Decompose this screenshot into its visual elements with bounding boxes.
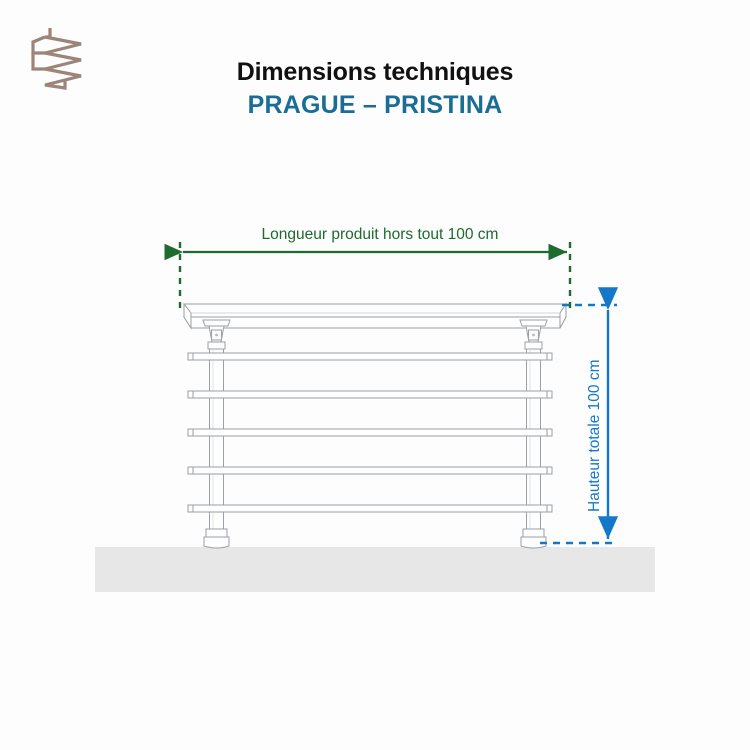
length-dimension-label: Longueur produit hors tout 100 cm	[190, 226, 570, 244]
height-dimension-label: Hauteur totale 100 cm	[586, 359, 604, 512]
crossbar	[188, 467, 552, 474]
crossbar	[188, 505, 552, 512]
crossbar	[188, 429, 552, 436]
crossbar	[188, 353, 552, 360]
crossbar	[188, 391, 552, 398]
crossbar-group	[188, 353, 552, 512]
handrail	[184, 304, 566, 328]
floor-slab	[95, 547, 655, 592]
technical-dimensions-page: Dimensions techniques PRAGUE – PRISTINA	[0, 0, 750, 750]
product-technical-drawing	[0, 0, 750, 750]
length-dimension	[180, 242, 570, 308]
